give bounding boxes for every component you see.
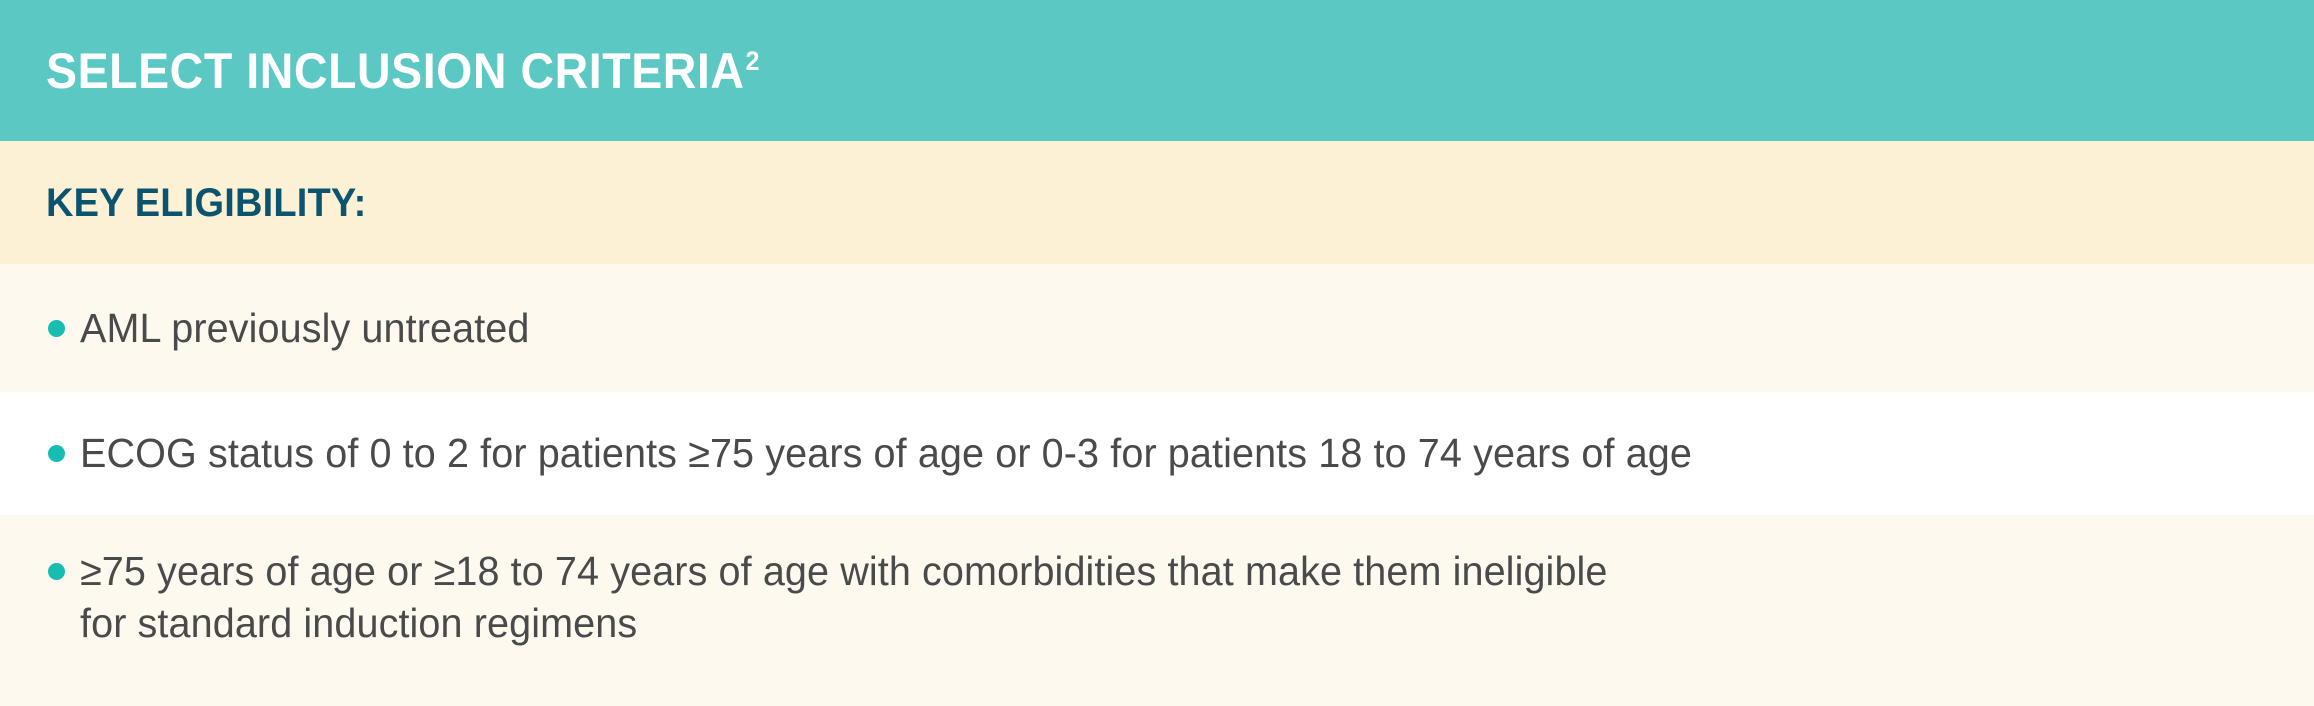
panel-title: SELECT INCLUSION CRITERIA2: [46, 46, 760, 96]
key-eligibility-band: KEY ELIGIBILITY:: [0, 141, 2314, 264]
criteria-text-line: for standard induction regimens: [80, 597, 1608, 649]
criteria-bullet-1: AML previously untreated: [46, 302, 546, 354]
list-item: ≥75 years of age or ≥18 to 74 years of a…: [0, 515, 2314, 706]
criteria-text-2: ECOG status of 0 to 2 for patients ≥75 y…: [80, 427, 1692, 479]
list-item: AML previously untreated: [0, 264, 2314, 392]
bullet-dot-icon: [48, 445, 65, 462]
criteria-list: AML previously untreated ECOG status of …: [0, 264, 2314, 706]
select-inclusion-criteria-panel: SELECT INCLUSION CRITERIA2 KEY ELIGIBILI…: [0, 0, 2314, 706]
bullet-dot-icon: [48, 320, 65, 337]
key-eligibility-label: KEY ELIGIBILITY:: [46, 183, 366, 223]
criteria-bullet-2: ECOG status of 0 to 2 for patients ≥75 y…: [46, 427, 1750, 479]
bullet-dot-icon: [48, 563, 65, 580]
criteria-text-1: AML previously untreated: [80, 302, 529, 354]
criteria-text-line: ≥75 years of age or ≥18 to 74 years of a…: [80, 545, 1608, 597]
criteria-text-3: ≥75 years of age or ≥18 to 74 years of a…: [80, 545, 1608, 649]
criteria-text-line: ECOG status of 0 to 2 for patients ≥75 y…: [80, 427, 1692, 479]
panel-header: SELECT INCLUSION CRITERIA2: [0, 0, 2314, 141]
panel-title-text: SELECT INCLUSION CRITERIA: [46, 43, 745, 99]
criteria-bullet-3: ≥75 years of age or ≥18 to 74 years of a…: [46, 545, 1663, 649]
list-item: ECOG status of 0 to 2 for patients ≥75 y…: [0, 392, 2314, 515]
criteria-text-line: AML previously untreated: [80, 302, 529, 354]
panel-title-superscript: 2: [745, 46, 760, 76]
